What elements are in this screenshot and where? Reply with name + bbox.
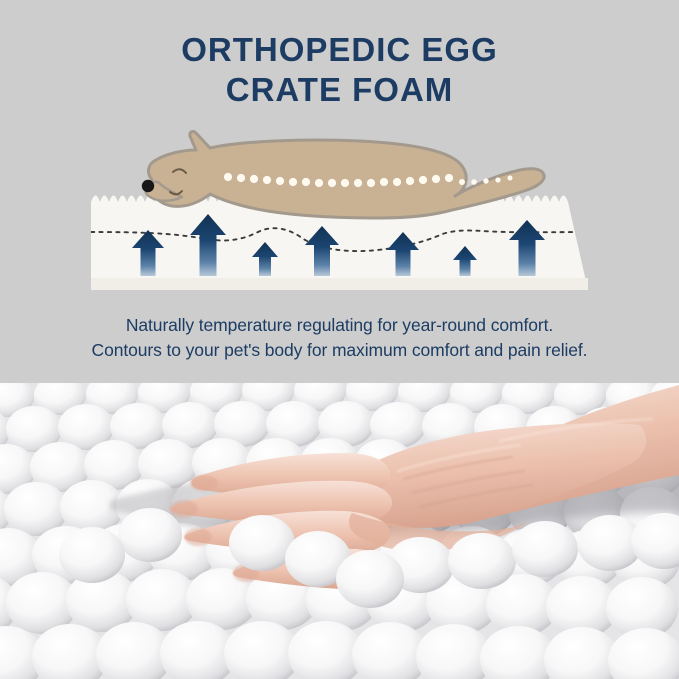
- dog-nose: [142, 180, 154, 192]
- info-panel: ORTHOPEDIC EGG CRATE FOAM: [0, 0, 679, 383]
- caption-line-2: Contours to your pet's body for maximum …: [0, 338, 679, 363]
- title-line-1: ORTHOPEDIC EGG: [0, 30, 679, 70]
- foam-photo-panel: [0, 383, 679, 679]
- product-feature-graphic: ORTHOPEDIC EGG CRATE FOAM: [0, 0, 679, 679]
- page-title: ORTHOPEDIC EGG CRATE FOAM: [0, 30, 679, 110]
- caption-block: Naturally temperature regulating for yea…: [0, 313, 679, 363]
- diagram-illustration: [0, 120, 679, 300]
- caption-line-1: Naturally temperature regulating for yea…: [0, 313, 679, 338]
- hand-on-foam-photo: [0, 383, 679, 679]
- title-line-2: CRATE FOAM: [0, 70, 679, 110]
